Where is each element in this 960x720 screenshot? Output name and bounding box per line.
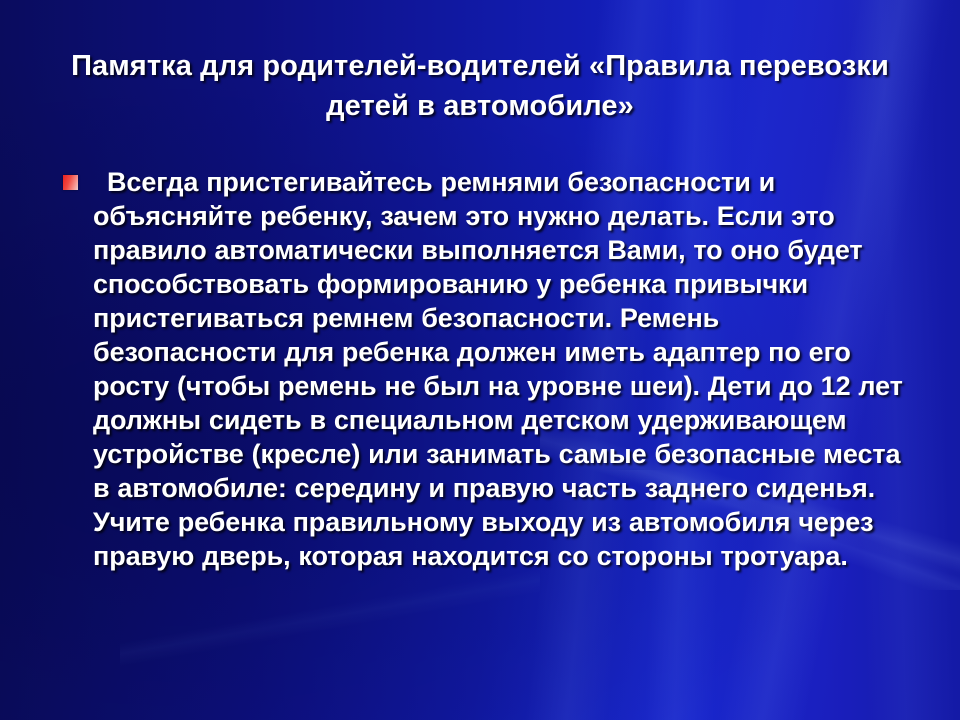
list-item: Всегда пристегивайтесь ремнями безопасно… [58, 165, 908, 573]
background-diagonal-streak-3 [120, 560, 540, 670]
slide-body: Всегда пристегивайтесь ремнями безопасно… [58, 165, 908, 573]
presentation-slide: Памятка для родителей-водителей «Правила… [0, 0, 960, 720]
square-bullet-icon [63, 175, 78, 190]
slide-title: Памятка для родителей-водителей «Правила… [40, 46, 920, 126]
bullet-paragraph-text: Всегда пристегивайтесь ремнями безопасно… [93, 165, 908, 573]
